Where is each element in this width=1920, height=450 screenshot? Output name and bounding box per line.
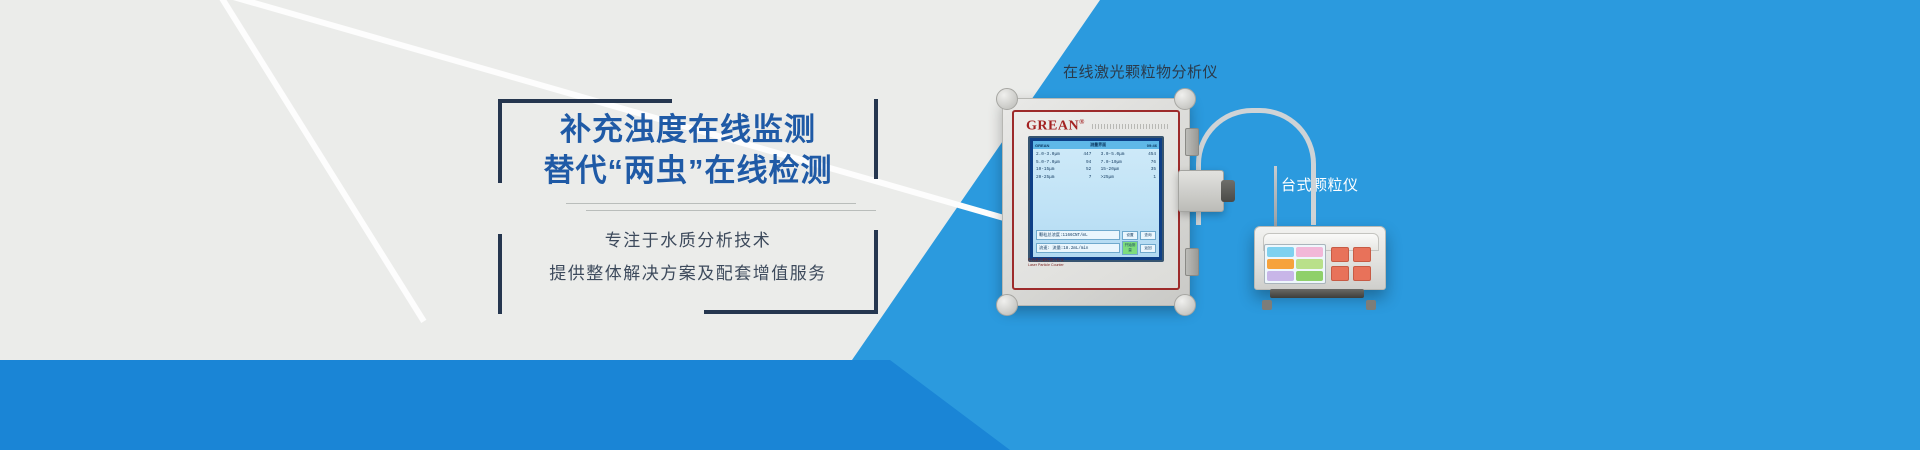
headline: 补充浊度在线监测 替代“两虫”在线检测 — [498, 109, 878, 191]
range-b: 7.0-10μm — [1101, 159, 1131, 167]
desktop-foot-right — [1366, 300, 1376, 310]
analyzer-mount-top-right — [1174, 88, 1196, 110]
lcd-button-query[interactable]: 查询 — [1140, 231, 1156, 240]
range-a: 10-15μm — [1036, 166, 1066, 174]
lcd-header-left: GREAN — [1035, 143, 1049, 148]
lcd-table-row: 10-15μm 52 15-20μm 35 — [1036, 166, 1156, 174]
inlet-port-connector — [1178, 170, 1224, 212]
brand-trademark: ® — [1079, 118, 1085, 126]
count-a: 447 — [1075, 151, 1091, 159]
divider-line-1 — [566, 203, 856, 204]
lcd-measurement-table: 2.0-3.0μm 447 3.0-5.0μm 454 5.0-7.0μm 94… — [1033, 149, 1159, 228]
keypad-button[interactable] — [1353, 247, 1371, 262]
range-a: 5.0-7.0μm — [1036, 159, 1066, 167]
analyzer-door-panel: GREAN® GREAN 测量界面 09:46 2.0-3.0μm 447 3.… — [1012, 110, 1180, 290]
nameplate-en: Laser Particle Counter — [1028, 263, 1064, 268]
lcd-flow-field: 流速: 流量:18.2mL/min — [1036, 243, 1120, 253]
desktop-touch-screen[interactable] — [1264, 244, 1326, 284]
lcd-inner: GREAN 测量界面 09:46 2.0-3.0μm 447 3.0-5.0μm… — [1033, 141, 1159, 257]
screen-tile — [1296, 271, 1323, 281]
blue-band-bottom — [0, 360, 880, 450]
lcd-concentration-field: 颗粒总浓度:1166CNT/mL — [1036, 230, 1120, 240]
brand-logo: GREAN® — [1026, 118, 1085, 135]
desktop-foot-left — [1262, 300, 1272, 310]
background-layer — [0, 0, 1920, 450]
analyzer-mount-bottom-left — [996, 294, 1018, 316]
screen-tile — [1296, 247, 1323, 257]
count-a: 52 — [1075, 166, 1091, 174]
lcd-title-bar: GREAN 测量界面 09:46 — [1033, 141, 1159, 149]
hero-banner: 补充浊度在线监测 替代“两虫”在线检测 专注于水质分析技术 提供整体解决方案及配… — [0, 0, 1920, 450]
count-b: 454 — [1140, 151, 1156, 159]
range-b: 3.0-5.0μm — [1101, 151, 1131, 159]
online-laser-particle-analyzer: GREAN® GREAN 测量界面 09:46 2.0-3.0μm 447 3.… — [1002, 98, 1190, 306]
screen-tile — [1267, 247, 1294, 257]
keypad-button[interactable] — [1331, 247, 1349, 262]
screen-tile — [1296, 259, 1323, 269]
count-b: 35 — [1140, 166, 1156, 174]
lcd-button-settings[interactable]: 设置 — [1122, 231, 1138, 240]
lcd-header-right: 09:46 — [1147, 143, 1157, 148]
range-b: 15-20μm — [1101, 166, 1131, 174]
lcd-table-row: 2.0-3.0μm 447 3.0-5.0μm 454 — [1036, 151, 1156, 159]
lcd-footer: 颗粒总浓度:1166CNT/mL 设置 查询 流速: 流量:18.2mL/min… — [1033, 228, 1159, 257]
analyzer-mount-bottom-right — [1174, 294, 1196, 316]
analyzer-lcd-screen[interactable]: GREAN 测量界面 09:46 2.0-3.0μm 447 3.0-5.0μm… — [1028, 136, 1164, 262]
subtitle-line-1: 专注于水质分析技术 — [498, 226, 878, 251]
device-nameplate: 在线激光颗粒物分析仪 Laser Particle Counter — [1028, 258, 1064, 268]
screen-tile — [1267, 259, 1294, 269]
headline-block: 补充浊度在线监测 替代“两虫”在线检测 专注于水质分析技术 提供整体解决方案及配… — [498, 99, 878, 314]
count-a: 94 — [1075, 159, 1091, 167]
range-a: 2.0-3.0μm — [1036, 151, 1066, 159]
lcd-header-center: 测量界面 — [1090, 142, 1106, 148]
keypad-button[interactable] — [1331, 266, 1349, 281]
sampling-probe — [1274, 166, 1277, 226]
range-b: >25μm — [1101, 174, 1131, 182]
subtitle-line-2: 提供整体解决方案及配套增值服务 — [498, 259, 878, 284]
divider-line-2 — [586, 210, 876, 211]
lcd-button-back[interactable]: 返回 — [1140, 244, 1156, 253]
screen-tile — [1267, 271, 1294, 281]
headline-line-1: 补充浊度在线监测 — [498, 109, 878, 150]
lcd-table-row: 5.0-7.0μm 94 7.0-10μm 76 — [1036, 159, 1156, 167]
count-a: 7 — [1075, 174, 1091, 182]
range-a: 20-25μm — [1036, 174, 1066, 182]
count-b: 76 — [1140, 159, 1156, 167]
lcd-table-row: 20-25μm 7 >25μm 1 — [1036, 174, 1156, 182]
lcd-footer-row-1: 颗粒总浓度:1166CNT/mL 设置 查询 — [1036, 230, 1156, 240]
brand-hatch-pattern — [1092, 124, 1168, 129]
keypad-button[interactable] — [1353, 266, 1371, 281]
headline-line-2: 替代“两虫”在线检测 — [498, 150, 878, 191]
lcd-button-start-measure[interactable]: 开始测量 — [1122, 241, 1138, 255]
analyzer-mount-top-left — [996, 88, 1018, 110]
desktop-keypad[interactable] — [1328, 244, 1374, 284]
lcd-footer-row-2: 流速: 流量:18.2mL/min 开始测量 返回 — [1036, 241, 1156, 255]
desktop-particle-counter — [1254, 212, 1384, 304]
analyzer-hinge-lower — [1185, 248, 1199, 276]
brand-name: GREAN — [1026, 119, 1079, 134]
analyzer-hinge-upper — [1185, 128, 1199, 156]
sample-tray-slot — [1270, 289, 1364, 298]
callout-label-analyzer: 在线激光颗粒物分析仪 — [1063, 61, 1218, 82]
count-b: 1 — [1140, 174, 1156, 182]
